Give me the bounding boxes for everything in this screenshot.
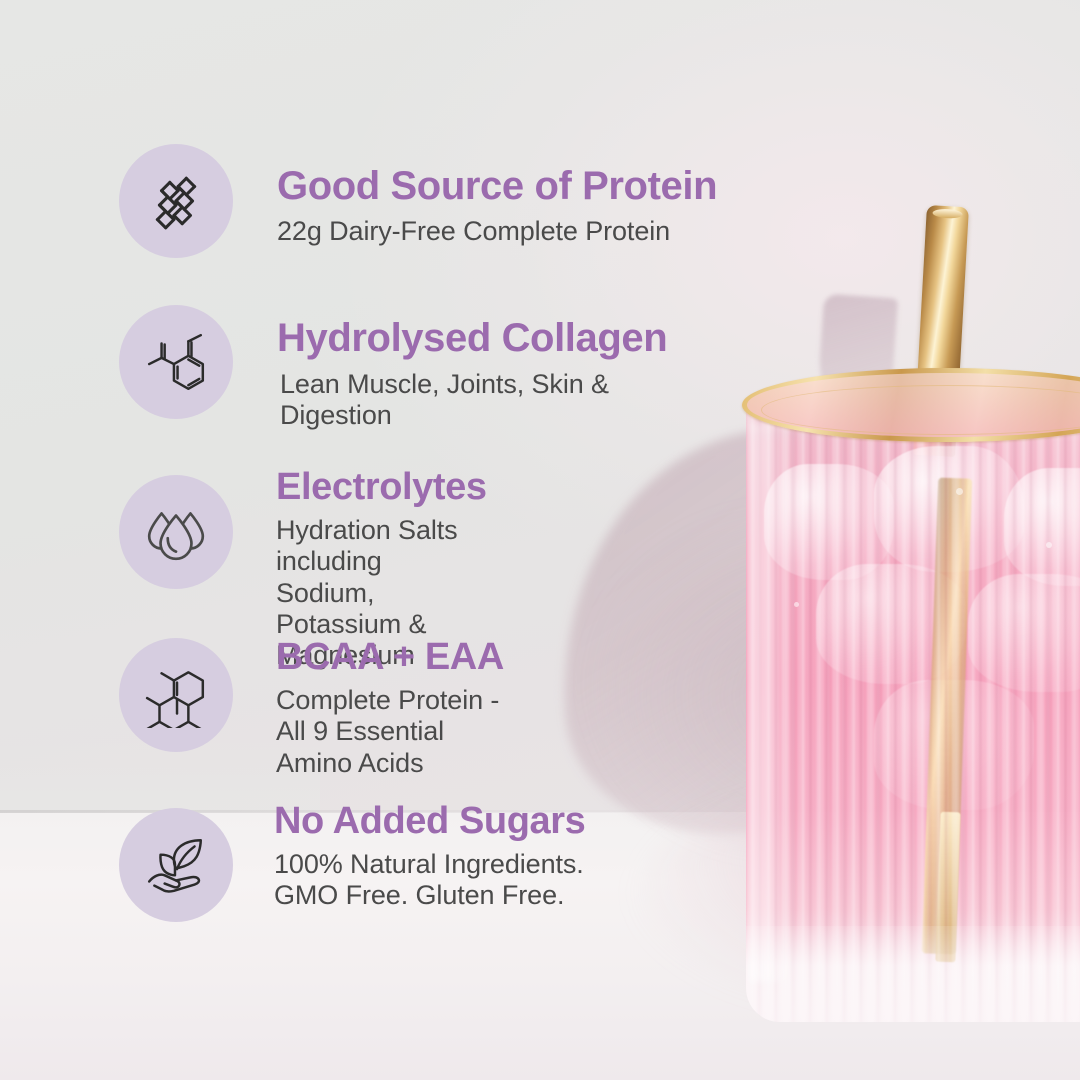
icon-badge: [119, 808, 233, 922]
feature-text: Hydrolysed Collagen Lean Muscle, Joints,…: [277, 318, 667, 432]
icon-badge: [119, 475, 233, 589]
icon-badge: [119, 305, 233, 419]
straw-tip-highlight: [932, 208, 962, 219]
feature-subtitle: Lean Muscle, Joints, Skin & Digestion: [280, 369, 667, 432]
product-infographic: Good Source of Protein 22g Dairy-Free Co…: [0, 0, 1080, 1080]
feature-title: BCAA + EAA: [276, 638, 504, 676]
feature-text: No Added Sugars 100% Natural Ingredients…: [274, 802, 585, 912]
molecule-bicyclic-icon: [143, 662, 209, 728]
feature-title: Electrolytes: [276, 468, 487, 506]
feature-title: Good Source of Protein: [277, 166, 717, 206]
feature-subtitle: Complete Protein - All 9 Essential Amino…: [276, 685, 504, 779]
feature-title: No Added Sugars: [274, 802, 585, 840]
condensation-drop: [956, 488, 963, 495]
icon-badge: [119, 144, 233, 258]
condensation-drop: [1046, 542, 1052, 548]
feature-subtitle: 100% Natural Ingredients. GMO Free. Glut…: [274, 849, 585, 912]
molecule-benzene-icon: [143, 329, 209, 395]
feature-list: Good Source of Protein 22g Dairy-Free Co…: [0, 0, 780, 1080]
glass-tumbler: [746, 368, 1080, 1028]
feature-text: Good Source of Protein 22g Dairy-Free Co…: [277, 166, 717, 247]
feature-title: Hydrolysed Collagen: [277, 318, 667, 358]
water-droplets-icon: [143, 499, 209, 565]
glass-body: [746, 392, 1080, 1022]
feature-subtitle: 22g Dairy-Free Complete Protein: [277, 216, 717, 247]
feature-text: BCAA + EAA Complete Protein - All 9 Esse…: [276, 638, 504, 779]
condensation-drop: [794, 602, 799, 607]
gold-rim-inner: [761, 385, 1080, 435]
glass-base: [746, 926, 1080, 1022]
dna-helix-icon: [143, 168, 209, 234]
icon-badge: [119, 638, 233, 752]
hand-leaf-icon: [143, 832, 209, 898]
